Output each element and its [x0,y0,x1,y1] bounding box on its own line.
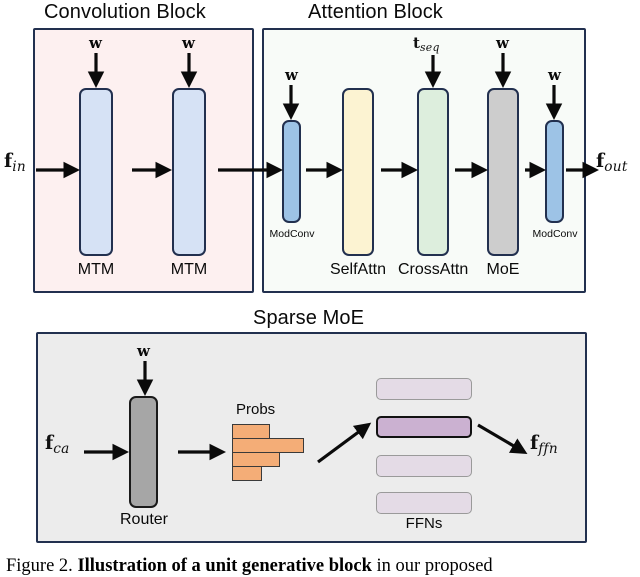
module-modconv-2-label: ModConv [529,228,581,240]
input-feature-symbol: f [4,150,12,172]
input-feature-subscript: in [12,159,26,175]
convolution-block-container [33,28,254,293]
ffn-box-3[interactable] [376,455,472,477]
module-mtm-1-label: MTM [62,261,130,279]
module-crossattn-label: CrossAttn [398,261,468,279]
weight-input-label-mtm-1: w [89,34,102,52]
output-feature-subscript: out [604,159,627,175]
module-modconv-1-label: ModConv [266,228,318,240]
probs-bar-1 [232,424,270,439]
sparse-moe-title: Sparse MoE [253,307,364,330]
weight-input-label-router: w [137,342,150,360]
t-seq-symbol: t [413,34,420,52]
moe-output-feature-subscript: ffn [538,441,558,457]
probs-bar-3 [232,452,280,467]
ffn-box-4[interactable] [376,492,472,514]
caption-bold: Illustration of a unit generative block [77,556,371,576]
module-selfattn[interactable] [342,88,374,256]
input-feature-label: fin [4,150,26,175]
moe-input-feature-symbol: f [45,432,53,454]
output-feature-label: fout [596,150,628,175]
module-modconv-2[interactable] [545,120,564,223]
weight-input-label-mtm-2: w [182,34,195,52]
module-selfattn-label: SelfAttn [313,261,403,279]
module-router-label: Router [113,511,175,529]
weight-input-label-moe: w [496,34,509,52]
output-feature-symbol: f [596,150,604,172]
module-moe[interactable] [487,88,519,256]
module-modconv-1[interactable] [282,120,301,223]
moe-input-feature-subscript: ca [53,441,69,457]
figure-canvas: Convolution Block Attention Block Sparse… [0,0,640,576]
moe-input-feature-label: fca [45,432,70,457]
module-crossattn[interactable] [417,88,449,256]
ffns-label: FFNs [376,515,472,532]
t-seq-input-label: tseq [413,34,440,54]
attention-block-title: Attention Block [308,1,443,24]
module-mtm-1[interactable] [79,88,113,256]
probs-bar-4 [232,466,262,481]
module-mtm-2[interactable] [172,88,206,256]
caption-prefix: Figure 2. [6,556,73,576]
weight-input-label-modconv-1: w [285,66,298,84]
ffn-box-2-active[interactable] [376,416,472,438]
figure-caption: Figure 2. Illustration of a unit generat… [6,556,638,577]
ffn-box-1[interactable] [376,378,472,400]
probs-chart-title: Probs [236,401,275,418]
weight-input-label-modconv-2: w [548,66,561,84]
t-seq-subscript: seq [420,41,440,54]
module-mtm-2-label: MTM [155,261,223,279]
moe-output-feature-symbol: f [530,432,538,454]
module-moe-label: MoE [478,261,528,279]
moe-output-feature-label: fffn [530,432,558,457]
convolution-block-title: Convolution Block [44,1,206,24]
probs-bar-2 [232,438,304,453]
caption-rest: in our proposed [377,556,493,576]
module-router[interactable] [129,396,158,508]
